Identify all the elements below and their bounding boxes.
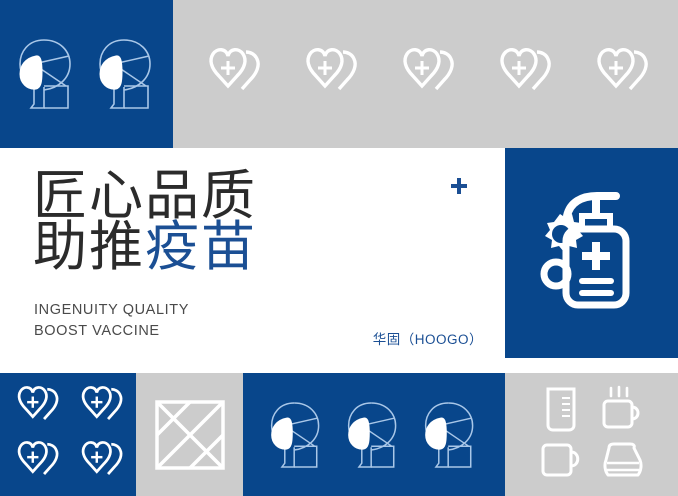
crossed-square-icon: [154, 399, 226, 471]
sanitizer-icon-wrap: [505, 148, 678, 358]
double-heart-plus-icon: [196, 46, 268, 102]
subtitle: INGENUITY QUALITY BOOST VACCINE: [34, 300, 189, 342]
teapot-icon: [598, 438, 646, 482]
headline-white-panel: 匠心品质 助推疫苗 INGENUITY QUALITY BOOST VACCIN…: [0, 148, 505, 358]
glassware-gray-panel: [505, 373, 678, 496]
crossed-square-wrap: [136, 373, 243, 496]
double-heart-plus-icon: [71, 439, 129, 485]
page-title: 匠心品质 助推疫苗: [33, 170, 257, 273]
masked-face-icon: [266, 397, 328, 473]
glassware-grid: [505, 373, 678, 496]
masked-face-icon: [343, 397, 405, 473]
sanitizer-blue-panel: [505, 148, 678, 358]
steaming-mug-icon: [599, 385, 645, 433]
double-heart-gray-band: [173, 0, 678, 148]
double-heart-plus-icon: [7, 384, 65, 430]
headline-line-1: 匠心品质: [33, 170, 257, 221]
crossed-square-gray-panel: [136, 373, 243, 496]
brand-name: 华固（HOOGO）: [373, 328, 483, 348]
masked-faces-blue-panel-top: [0, 0, 173, 148]
masked-face-row: [0, 0, 173, 148]
subtitle-line-1: INGENUITY QUALITY: [34, 300, 189, 321]
masked-face-icon: [14, 34, 80, 114]
measuring-beaker-icon: [540, 385, 582, 433]
subtitle-line-2: BOOST VACCINE: [34, 321, 189, 342]
plus-cross-icon: [449, 176, 469, 196]
double-heart-plus-icon: [71, 384, 129, 430]
masked-face-icon: [94, 34, 160, 114]
masked-face-row-bottom: [243, 373, 505, 496]
double-heart-plus-icon: [487, 46, 559, 102]
headline-line-2-dark: 助推: [33, 215, 145, 278]
poster-canvas: 匠心品质 助推疫苗 INGENUITY QUALITY BOOST VACCIN…: [0, 0, 678, 496]
double-heart-plus-icon: [7, 439, 65, 485]
hand-sanitizer-bottle-icon: [522, 186, 662, 320]
masked-face-icon: [420, 397, 482, 473]
double-heart-plus-icon: [390, 46, 462, 102]
headline-line-2-accent: 疫苗: [145, 215, 257, 278]
double-heart-plus-icon: [584, 46, 656, 102]
double-heart-grid: [0, 373, 136, 496]
double-heart-plus-icon: [293, 46, 365, 102]
double-heart-blue-panel: [0, 373, 136, 496]
double-heart-row: [173, 0, 678, 148]
headline-line-2: 助推疫苗: [33, 221, 257, 272]
plain-mug-icon: [538, 438, 584, 482]
masked-faces-blue-panel-bottom: [243, 373, 505, 496]
